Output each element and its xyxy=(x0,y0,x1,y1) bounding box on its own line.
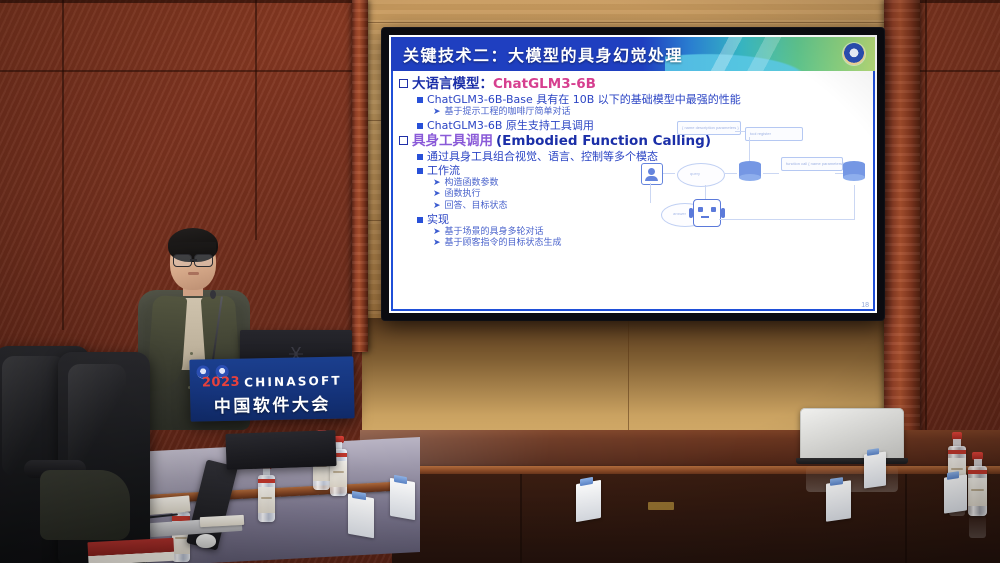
wall-seam xyxy=(255,0,257,240)
table-reflection xyxy=(360,430,1000,470)
bottle-reflection xyxy=(969,516,986,538)
panel-seam xyxy=(905,474,907,563)
slide-page-number: 18 xyxy=(861,302,869,309)
speaker-mouth xyxy=(188,272,199,275)
bullet-text: 具身工具调用 xyxy=(412,134,493,148)
card-face xyxy=(348,494,374,539)
alcove-seam xyxy=(362,22,892,23)
apple-logo-icon xyxy=(846,424,859,439)
jacket-button xyxy=(190,352,193,355)
macbook-base xyxy=(796,458,908,464)
microphone-head-icon xyxy=(210,290,216,299)
bullet-text: 函数执行 xyxy=(445,190,481,199)
bullet-l3-goalstate: ➤ 基于顾客指令的目标状态生成 xyxy=(433,239,869,248)
bullet-l2-base: ChatGLM3-6B-Base 具有在 10B 以下的基础模型中最强的性能 xyxy=(417,94,869,106)
arrow-bullet-icon: ➤ xyxy=(433,202,441,211)
bullet-text: 基于提示工程的咖啡厅简单对话 xyxy=(445,108,571,117)
name-card-holder[interactable] xyxy=(386,472,420,522)
jacket-lapel-left xyxy=(147,295,188,393)
name-card-holder[interactable] xyxy=(860,446,890,490)
podium-conference-en: CHINASOFT xyxy=(244,373,342,389)
chair-highlight xyxy=(68,364,126,474)
wall-seam xyxy=(925,0,927,430)
bullet-text: ChatGLM3-6B-Base 具有在 10B 以下的基础模型中最强的性能 xyxy=(427,94,741,106)
answer-label: answer xyxy=(673,211,686,216)
connector xyxy=(650,183,651,203)
water-bottle[interactable] xyxy=(258,462,275,532)
database-icon xyxy=(843,161,865,185)
bullet-text: 大语言模型： xyxy=(412,77,493,91)
bullet-text: 回答、目标状态 xyxy=(445,202,508,211)
bullet-l1-llm: 大语言模型： ChatGLM3-6B xyxy=(399,77,869,91)
bullet-text: 构造函数参数 xyxy=(445,179,499,188)
table-nameplate xyxy=(648,502,674,510)
square-outline-bullet-icon xyxy=(399,79,408,88)
arrow-bullet-icon: ➤ xyxy=(433,190,441,199)
card-face xyxy=(390,478,415,520)
square-filled-bullet-icon xyxy=(417,168,423,174)
podium-year: 2023 xyxy=(202,375,240,391)
bullet-text: 工作流 xyxy=(427,165,460,177)
arrow-bullet-icon: ➤ xyxy=(433,108,441,117)
panel-seam xyxy=(520,474,522,563)
draped-coat xyxy=(40,470,130,540)
robot-icon xyxy=(693,199,721,227)
square-filled-bullet-icon xyxy=(417,123,423,129)
connector xyxy=(705,185,706,199)
bottle-body xyxy=(258,475,275,522)
panel-seam xyxy=(628,318,629,448)
wall-pillar-left xyxy=(352,0,368,352)
bullet-l3-prompt: ➤ 基于提示工程的咖啡厅简单对话 xyxy=(433,108,869,117)
wall-seam xyxy=(62,0,64,330)
chair-highlight xyxy=(2,356,66,476)
slide-header-band: 关键技术二：大模型的具身幻觉处理 xyxy=(391,37,875,71)
function-call-box: function call { name parameters } xyxy=(781,157,843,171)
connector xyxy=(663,173,675,174)
arrow-bullet-icon: ➤ xyxy=(433,239,441,248)
connector xyxy=(735,131,745,132)
cloud-icon xyxy=(677,163,725,187)
schema-box: { name description parameters } xyxy=(677,121,741,135)
tool-register-box: tool register xyxy=(745,127,803,141)
name-card-holder[interactable] xyxy=(572,474,606,524)
table-front-panel xyxy=(392,474,1000,563)
bullet-text: 实现 xyxy=(427,214,449,226)
bottle-top-stripe xyxy=(258,479,275,483)
bullet-text: 基于顾客指令的目标状态生成 xyxy=(445,239,562,248)
connector xyxy=(719,219,855,220)
database-icon xyxy=(739,161,761,185)
arrow-bullet-icon: ➤ xyxy=(433,179,441,188)
podium-conference-cn: 中国软件大会 xyxy=(214,390,331,417)
presentation-display[interactable]: 关键技术二：大模型的具身幻觉处理 大语言模型： ChatGLM3-6B Chat… xyxy=(382,28,884,320)
card-face xyxy=(826,480,851,522)
query-label: query xyxy=(690,171,700,176)
conference-room-photo: 关键技术二：大模型的具身幻觉处理 大语言模型： ChatGLM3-6B Chat… xyxy=(0,0,1000,563)
function-calling-flow-diagram: { name description parameters } tool reg… xyxy=(635,121,873,233)
square-filled-bullet-icon xyxy=(417,97,423,103)
name-card-holder[interactable] xyxy=(940,468,972,516)
card-face xyxy=(944,474,967,513)
bottle-label xyxy=(258,487,275,513)
bullet-text: ChatGLM3-6B 原生支持工具调用 xyxy=(427,120,594,132)
podium-sign: 2023 CHINASOFT 中国软件大会 xyxy=(189,356,354,421)
bullet-accent-text: ChatGLM3-6B xyxy=(493,77,596,91)
square-filled-bullet-icon xyxy=(417,154,423,160)
square-outline-bullet-icon xyxy=(399,136,408,145)
bottle-top-stripe xyxy=(948,450,966,454)
card-face xyxy=(864,451,886,488)
connector xyxy=(854,185,855,219)
arrow-bullet-icon: ➤ xyxy=(433,228,441,237)
connector xyxy=(725,173,737,174)
podium-english-title: 2023 CHINASOFT xyxy=(202,373,342,391)
slide-canvas: 关键技术二：大模型的具身幻觉处理 大语言模型： ChatGLM3-6B Chat… xyxy=(389,35,877,313)
name-card-holder[interactable] xyxy=(822,474,856,524)
slide-title: 关键技术二：大模型的具身幻觉处理 xyxy=(403,42,683,66)
computer-mouse[interactable] xyxy=(196,534,216,548)
connector xyxy=(749,137,750,161)
user-icon xyxy=(641,163,663,185)
bullet-text: 通过具身工具组合视觉、语言、控制等多个模态 xyxy=(427,151,658,163)
connector xyxy=(763,173,779,174)
connector xyxy=(835,173,843,174)
bullet-text: 基于场景的具身多轮对话 xyxy=(445,228,544,237)
notebook xyxy=(87,538,174,563)
university-emblem-icon xyxy=(843,43,865,65)
name-card-holder[interactable] xyxy=(344,488,380,540)
laptop-device[interactable] xyxy=(225,430,336,470)
square-filled-bullet-icon xyxy=(417,217,423,223)
display-screen: 关键技术二：大模型的具身幻觉处理 大语言模型： ChatGLM3-6B Chat… xyxy=(389,35,877,313)
glasses-bridge xyxy=(190,259,197,261)
